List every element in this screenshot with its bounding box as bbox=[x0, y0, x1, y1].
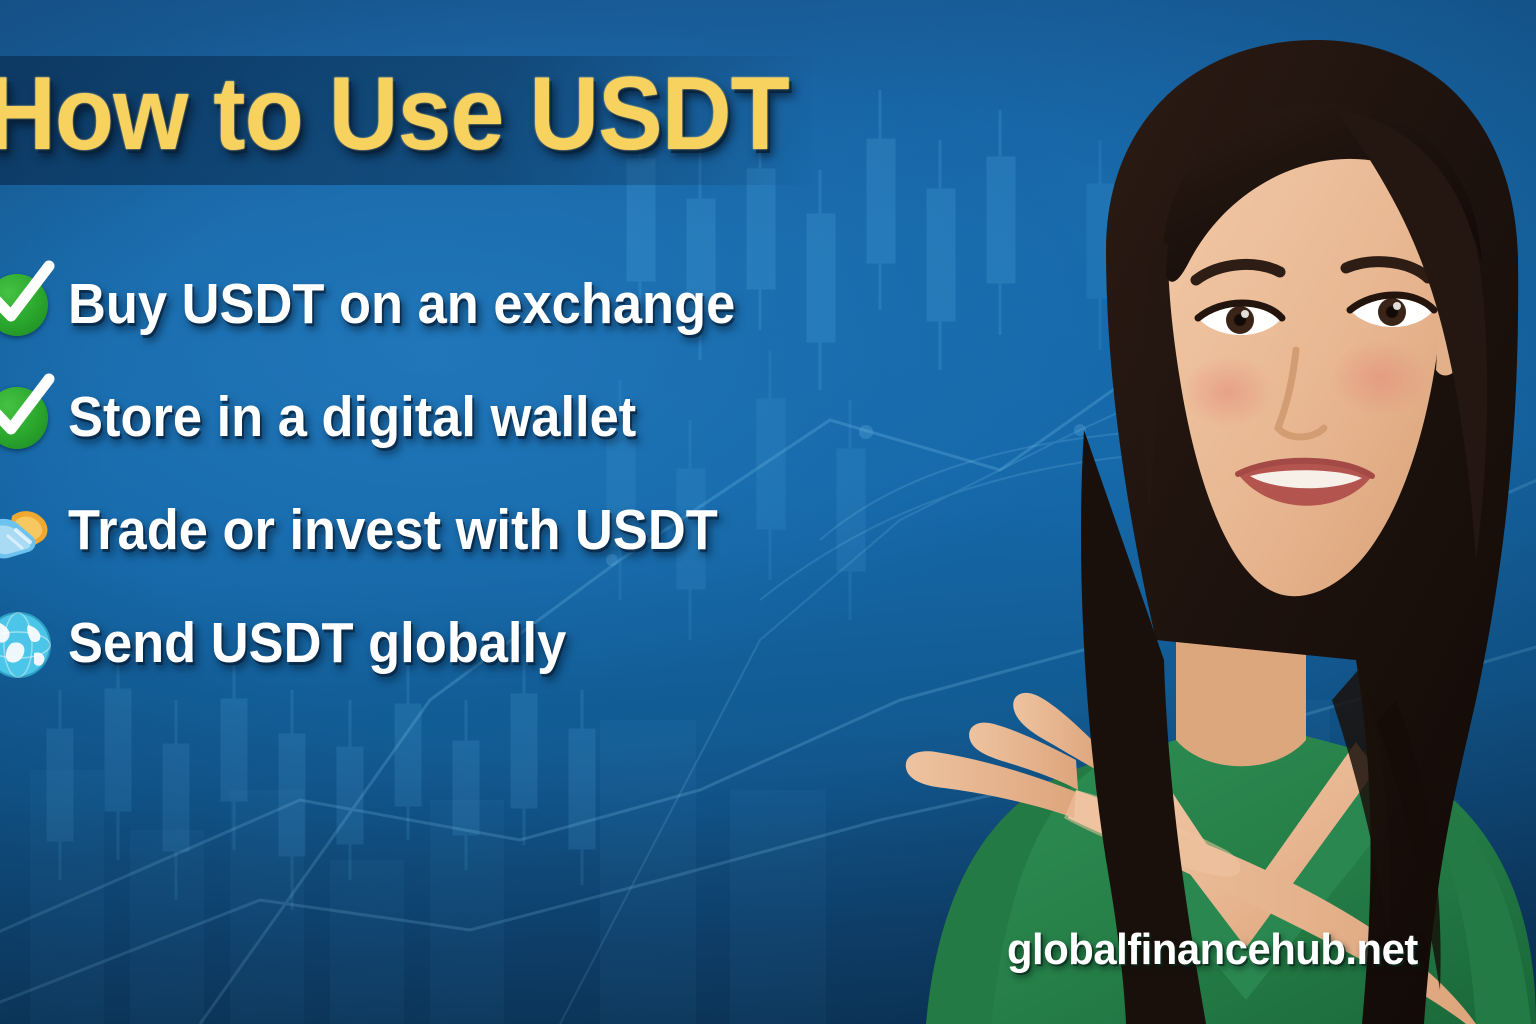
list-item-label: Trade or invest with USDT bbox=[68, 502, 718, 559]
list-item-label: Buy USDT on an exchange bbox=[68, 276, 735, 333]
globe-icon bbox=[0, 607, 56, 681]
presenter-photo bbox=[776, 0, 1536, 1024]
benefit-list: Buy USDT on an exchange Store in a digit… bbox=[0, 248, 782, 700]
list-item-label: Send USDT globally bbox=[68, 615, 566, 672]
check-circle-icon bbox=[0, 381, 56, 455]
usdt-promo-banner: How to Use USDT Buy USDT on an exchange … bbox=[0, 0, 1536, 1024]
list-item: Buy USDT on an exchange bbox=[0, 248, 782, 361]
list-item-label: Store in a digital wallet bbox=[68, 389, 636, 446]
list-item: Trade or invest with USDT bbox=[0, 474, 782, 587]
list-item: Send USDT globally bbox=[0, 587, 782, 700]
list-item: Store in a digital wallet bbox=[0, 361, 782, 474]
handshake-icon bbox=[0, 494, 56, 568]
page-title: How to Use USDT bbox=[0, 62, 749, 166]
site-watermark: globalfinancehub.net bbox=[1007, 925, 1418, 975]
check-circle-icon bbox=[0, 268, 56, 342]
